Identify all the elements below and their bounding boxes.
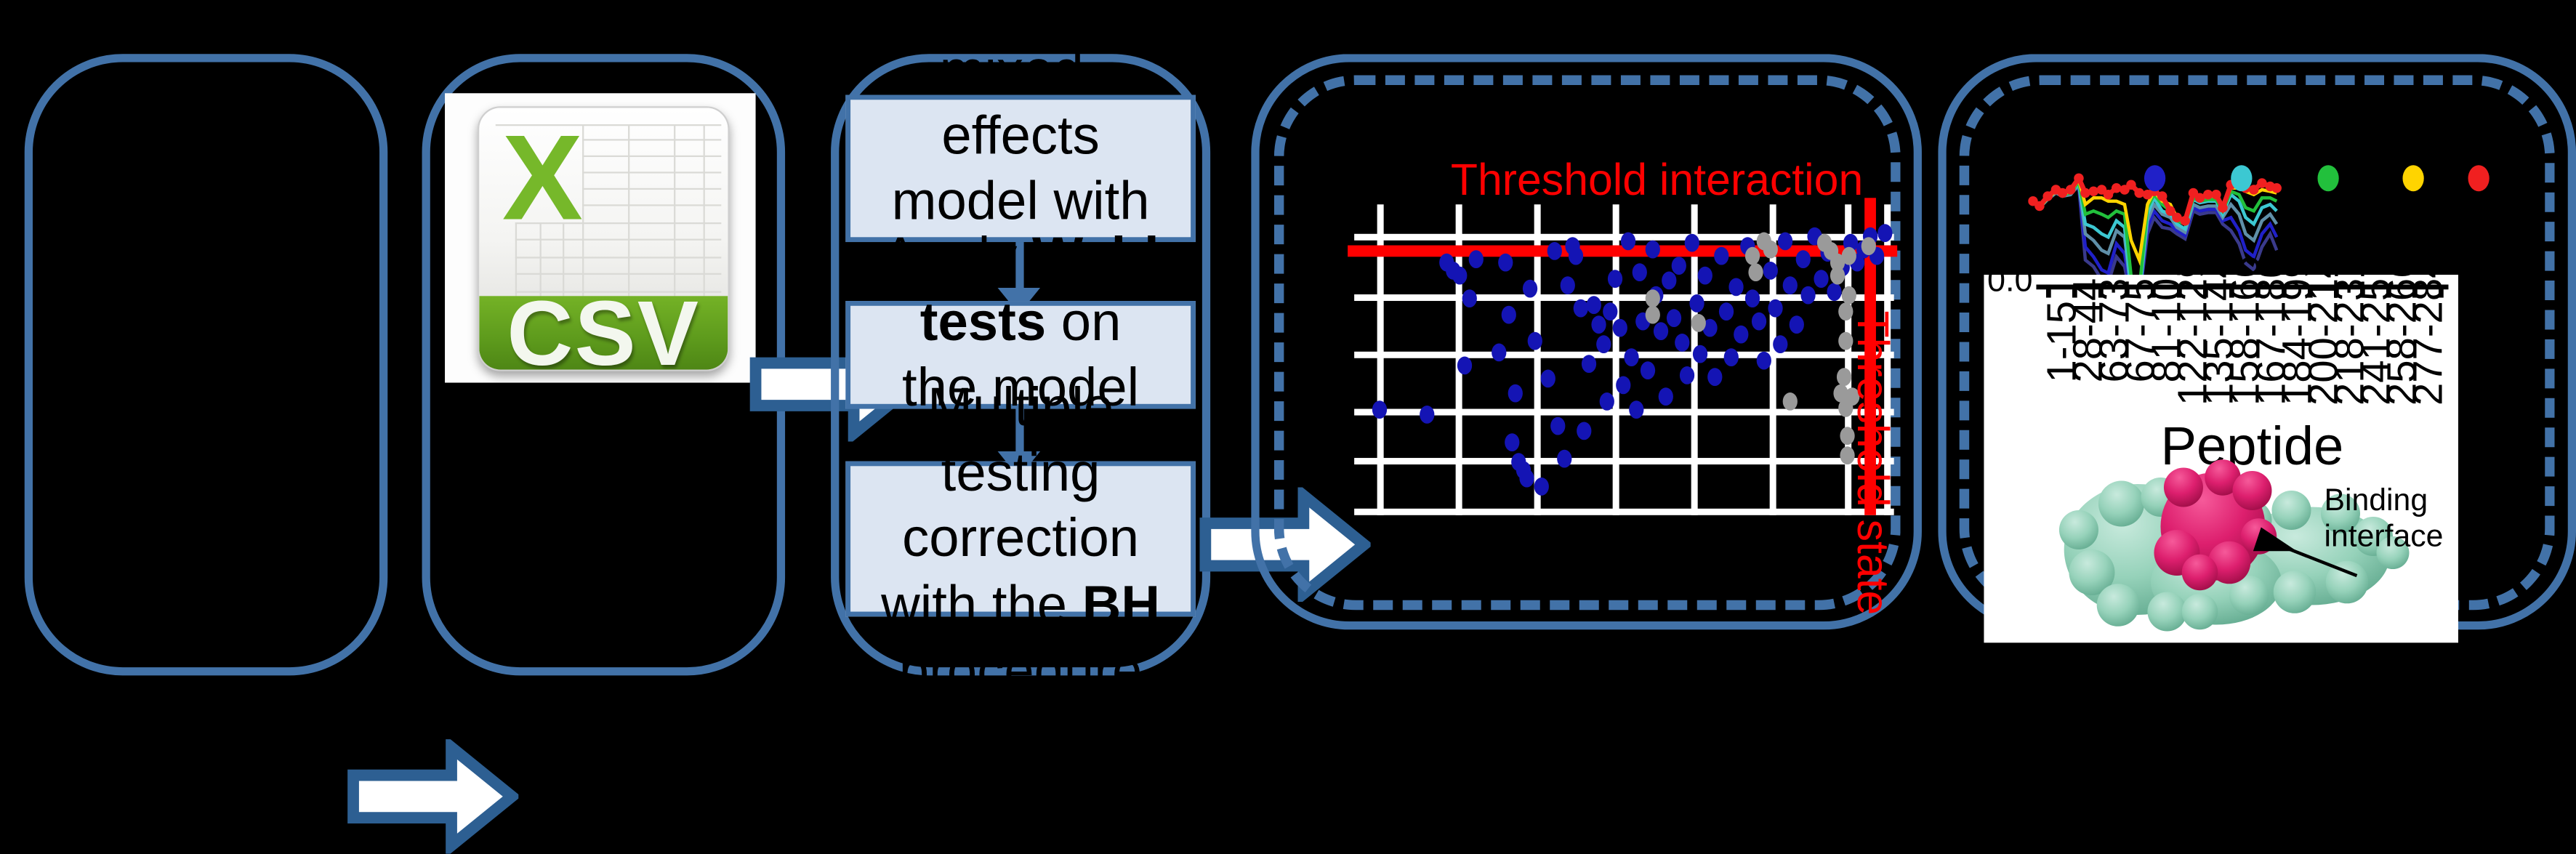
scatter-point (1800, 286, 1815, 305)
scatter-point (1768, 299, 1782, 318)
threshold-state-label: Threshold state (1846, 311, 1897, 616)
scatter-point (1492, 344, 1506, 362)
scatter-plot (1354, 204, 1894, 515)
scatter-point (1561, 276, 1575, 294)
scatter-point (1462, 289, 1477, 307)
scatter-point-grey (1842, 286, 1856, 305)
scatter-point (1420, 406, 1434, 424)
scatter-point-grey (1861, 237, 1876, 255)
scatter-point (1698, 267, 1712, 285)
legend-dot-yellow (2402, 165, 2423, 191)
scatter-point (1534, 478, 1549, 496)
scatter-point (1667, 309, 1681, 327)
scatter-point (1557, 450, 1571, 468)
scatter-point (1757, 352, 1771, 370)
scatter-point (1624, 348, 1638, 366)
scatter-point (1773, 335, 1787, 353)
scatter-point (1796, 250, 1811, 268)
binding-interface-label: Binding interface (2324, 484, 2443, 555)
scatter-point (1877, 224, 1892, 242)
scatter-point (1582, 355, 1596, 373)
scatter-point (1547, 242, 1562, 260)
scatter-point (1372, 400, 1387, 419)
x-axis-tick (2046, 285, 2051, 298)
csv-band: CSV (479, 297, 728, 370)
csv-sheet: X (479, 108, 728, 297)
scatter-point (1523, 280, 1537, 298)
scatter-point (1550, 417, 1565, 435)
scatter-point (1498, 254, 1513, 272)
scatter-point (1814, 270, 1828, 288)
binding-interface-label-line1: Binding (2324, 484, 2443, 520)
scatter-point-grey (1763, 241, 1778, 259)
scatter-point (1659, 387, 1673, 406)
threshold-interaction-label: Threshold interaction (1451, 156, 1863, 206)
grid-h (1354, 409, 1894, 416)
scatter-point (1613, 319, 1627, 337)
legend-dot-cyan (2231, 165, 2252, 191)
scatter-point (1790, 315, 1804, 334)
scatter-point (1452, 267, 1467, 285)
scatter-point (1685, 234, 1699, 252)
scatter-point-grey (1783, 392, 1798, 411)
scatter-point (1646, 241, 1660, 259)
scatter-point (1827, 283, 1841, 301)
scatter-point-grey (1646, 289, 1660, 307)
scatter-point (1591, 315, 1606, 334)
scatter-point (1672, 257, 1686, 275)
scatter-point-grey (1842, 247, 1856, 265)
csv-band-label: CSV (507, 280, 700, 371)
scatter-point (1502, 306, 1516, 324)
scatter-point (1689, 294, 1704, 313)
scatter-point (1508, 384, 1523, 403)
peptide-protein-card: 0.0 1-15 28-44 63-73 67-75 81-101 122-12… (1984, 275, 2458, 642)
scatter-point (1641, 361, 1655, 379)
scatter-point (1778, 233, 1792, 251)
scatter-point (1457, 357, 1472, 375)
scatter-point (1608, 270, 1622, 288)
scatter-point (1569, 247, 1583, 265)
scatter-point-grey (1691, 314, 1706, 332)
scatter-point (1675, 334, 1689, 352)
scatter-point (1654, 322, 1668, 340)
scatter-point (1728, 278, 1743, 297)
scatter-point (1662, 272, 1676, 290)
legend-dot-red (2468, 165, 2489, 191)
scatter-point-grey (1646, 306, 1660, 324)
csv-icon-card: X CSV (445, 93, 756, 382)
scatter-point (1693, 345, 1707, 363)
grid-h (1354, 509, 1894, 515)
step-bh-box[interactable]: Multiple testing correction with the BH … (845, 462, 1196, 617)
diagram-canvas: X CSV Fit a linear mixed- effects model … (0, 0, 2576, 687)
scatter-point (1763, 262, 1778, 280)
step-reml-box[interactable]: Fit a linear mixed- effects model with R… (845, 95, 1196, 243)
scatter-point (1469, 250, 1484, 268)
scatter-point (1587, 296, 1601, 314)
grid-h (1354, 458, 1894, 464)
peptide-tick-label: 277-284 (2406, 256, 2453, 406)
scatter-point (1519, 470, 1534, 488)
legend-dot-green (2317, 165, 2338, 191)
scatter-point (1621, 233, 1635, 251)
scatter-point (1734, 326, 1748, 344)
scatter-point (1505, 433, 1519, 451)
scatter-point (1680, 366, 1694, 384)
scatter-point (1714, 247, 1728, 265)
y-axis-tick-label: 0.0 (1987, 263, 2033, 301)
scatter-point (1600, 392, 1614, 411)
binding-interface-label-line2: interface (2324, 520, 2443, 555)
scatter-point-grey (1830, 267, 1845, 285)
step-bh-text: Multiple testing correction with the BH … (864, 374, 1178, 704)
scatter-point (1752, 313, 1766, 331)
csv-file-icon: X CSV (478, 106, 730, 371)
panel-input (25, 54, 388, 675)
scatter-point (1603, 302, 1617, 321)
scatter-point-grey (1748, 263, 1763, 281)
scatter-point (1577, 422, 1591, 440)
scatter-point (1724, 348, 1739, 366)
scatter-point-grey (1745, 247, 1760, 265)
scatter-point (1596, 335, 1611, 353)
legend-dot-blue (2144, 165, 2165, 191)
scatter-point (1541, 370, 1555, 388)
scatter-point (1783, 276, 1798, 294)
scatter-point (1745, 289, 1760, 307)
csv-x-letter: X (502, 118, 583, 239)
scatter-point (1528, 332, 1542, 350)
scatter-point (1574, 299, 1588, 318)
scatter-point (1707, 368, 1722, 386)
scatter-point (1633, 263, 1647, 281)
scatter-point (1629, 400, 1643, 419)
arrow-input-to-csv (347, 739, 518, 854)
scatter-point (1616, 376, 1630, 395)
scatter-point (1719, 302, 1734, 321)
